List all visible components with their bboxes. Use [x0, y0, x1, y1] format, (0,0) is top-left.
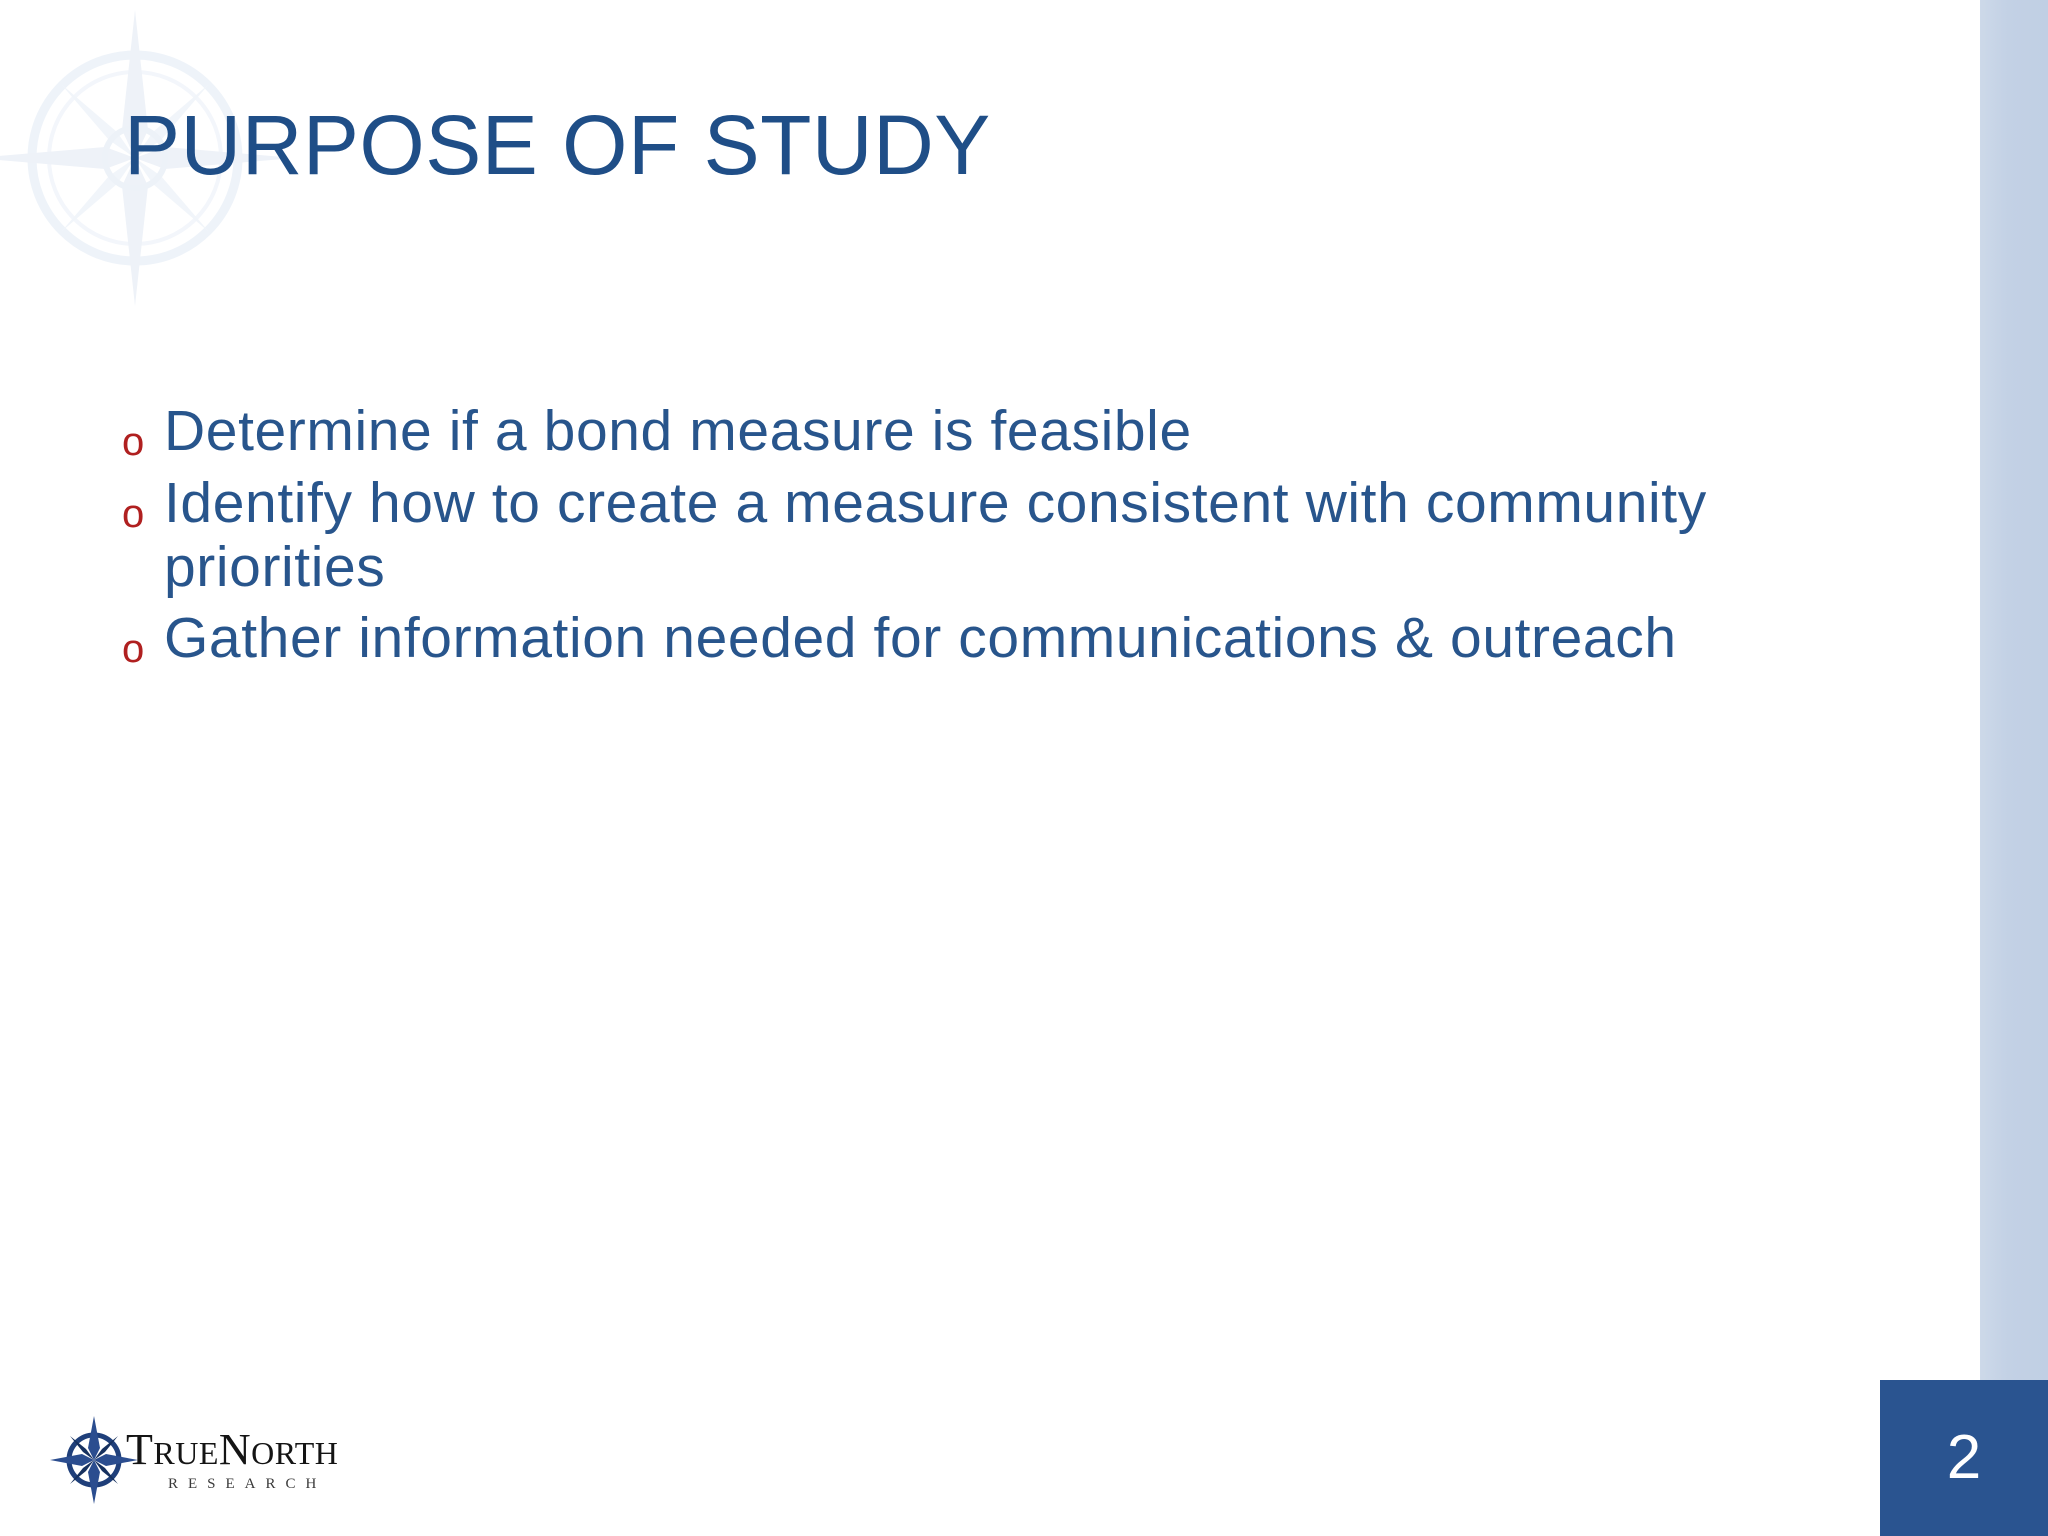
- truenorth-research-logo: TRUENORTH RESEARCH: [48, 1408, 378, 1514]
- bullet-marker-icon: o: [122, 472, 164, 534]
- right-accent-band: [1980, 0, 2048, 1536]
- right-accent-band-gradient: [1980, 0, 2048, 1536]
- bullet-marker-icon: o: [122, 607, 164, 669]
- page-number: 2: [1947, 1427, 1981, 1489]
- page-title: PURPOSE OF STUDY: [124, 103, 991, 187]
- page-number-box: 2: [1880, 1380, 2048, 1536]
- logo-letter-t: T: [126, 1425, 153, 1474]
- logo-letter-n: N: [219, 1425, 251, 1474]
- logo-north-rest: ORTH: [251, 1435, 338, 1471]
- bullet-list: o Determine if a bond measure is feasibl…: [122, 400, 1822, 679]
- bullet-marker-icon: o: [122, 400, 164, 462]
- list-item: o Identify how to create a measure consi…: [122, 472, 1822, 600]
- logo-wordmark: TRUENORTH: [126, 1424, 338, 1475]
- list-item: o Gather information needed for communic…: [122, 607, 1822, 671]
- logo-tagline: RESEARCH: [168, 1476, 326, 1493]
- list-item-label: Identify how to create a measure consist…: [164, 472, 1784, 600]
- list-item-label: Gather information needed for communicat…: [164, 607, 1784, 671]
- logo-true-rest: RUE: [153, 1435, 219, 1471]
- slide: PURPOSE OF STUDY o Determine if a bond m…: [0, 0, 2048, 1536]
- list-item-label: Determine if a bond measure is feasible: [164, 400, 1784, 464]
- list-item: o Determine if a bond measure is feasibl…: [122, 400, 1822, 464]
